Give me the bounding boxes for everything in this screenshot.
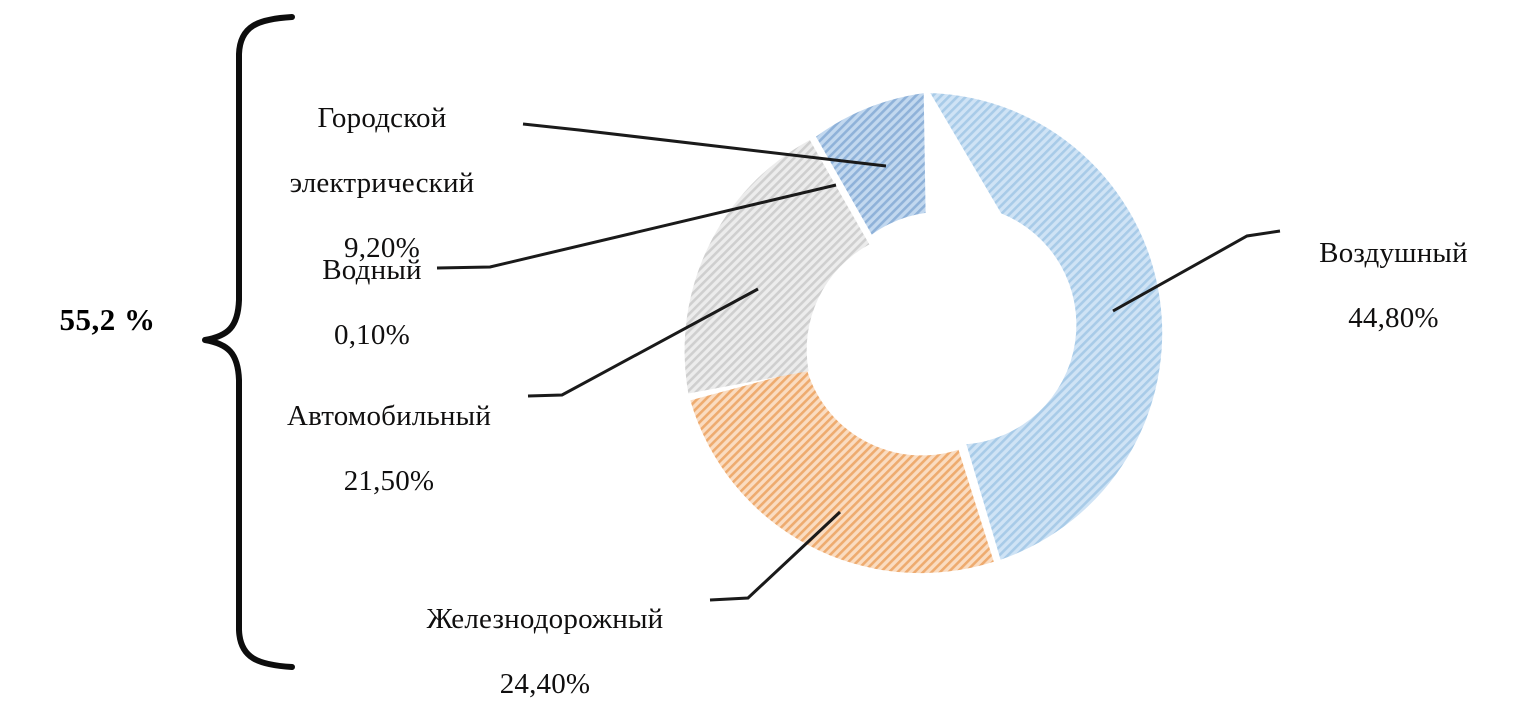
slice-label-value: 44,80%	[1286, 302, 1501, 334]
slice-label-name: Воздушный	[1286, 237, 1501, 269]
slice-zheleznodorozhny[interactable]	[690, 369, 994, 573]
slice-label-value: 0,10%	[272, 319, 472, 351]
slice-label-vozdushny: Воздушный 44,80%	[1286, 205, 1501, 367]
slice-label-value: 24,40%	[380, 668, 710, 700]
figure-canvas: 55,2 % Городской электрический 9,20% Вод…	[0, 0, 1517, 704]
slice-label-zheleznodorozhny: Железнодорожный 24,40%	[380, 571, 710, 704]
slice-label-name: Автомобильный	[250, 400, 528, 432]
slice-label-name-2: электрический	[248, 167, 516, 199]
slice-label-vodny: Водный 0,10%	[272, 222, 472, 384]
slice-label-name: Железнодорожный	[380, 603, 710, 635]
slice-label-avtomobilny: Автомобильный 21,50%	[250, 368, 528, 530]
slice-label-value: 21,50%	[250, 465, 528, 497]
total-percentage-label: 55,2 %	[20, 302, 195, 338]
slice-label-name: Городской	[248, 102, 516, 134]
slice-label-name: Водный	[272, 254, 472, 286]
